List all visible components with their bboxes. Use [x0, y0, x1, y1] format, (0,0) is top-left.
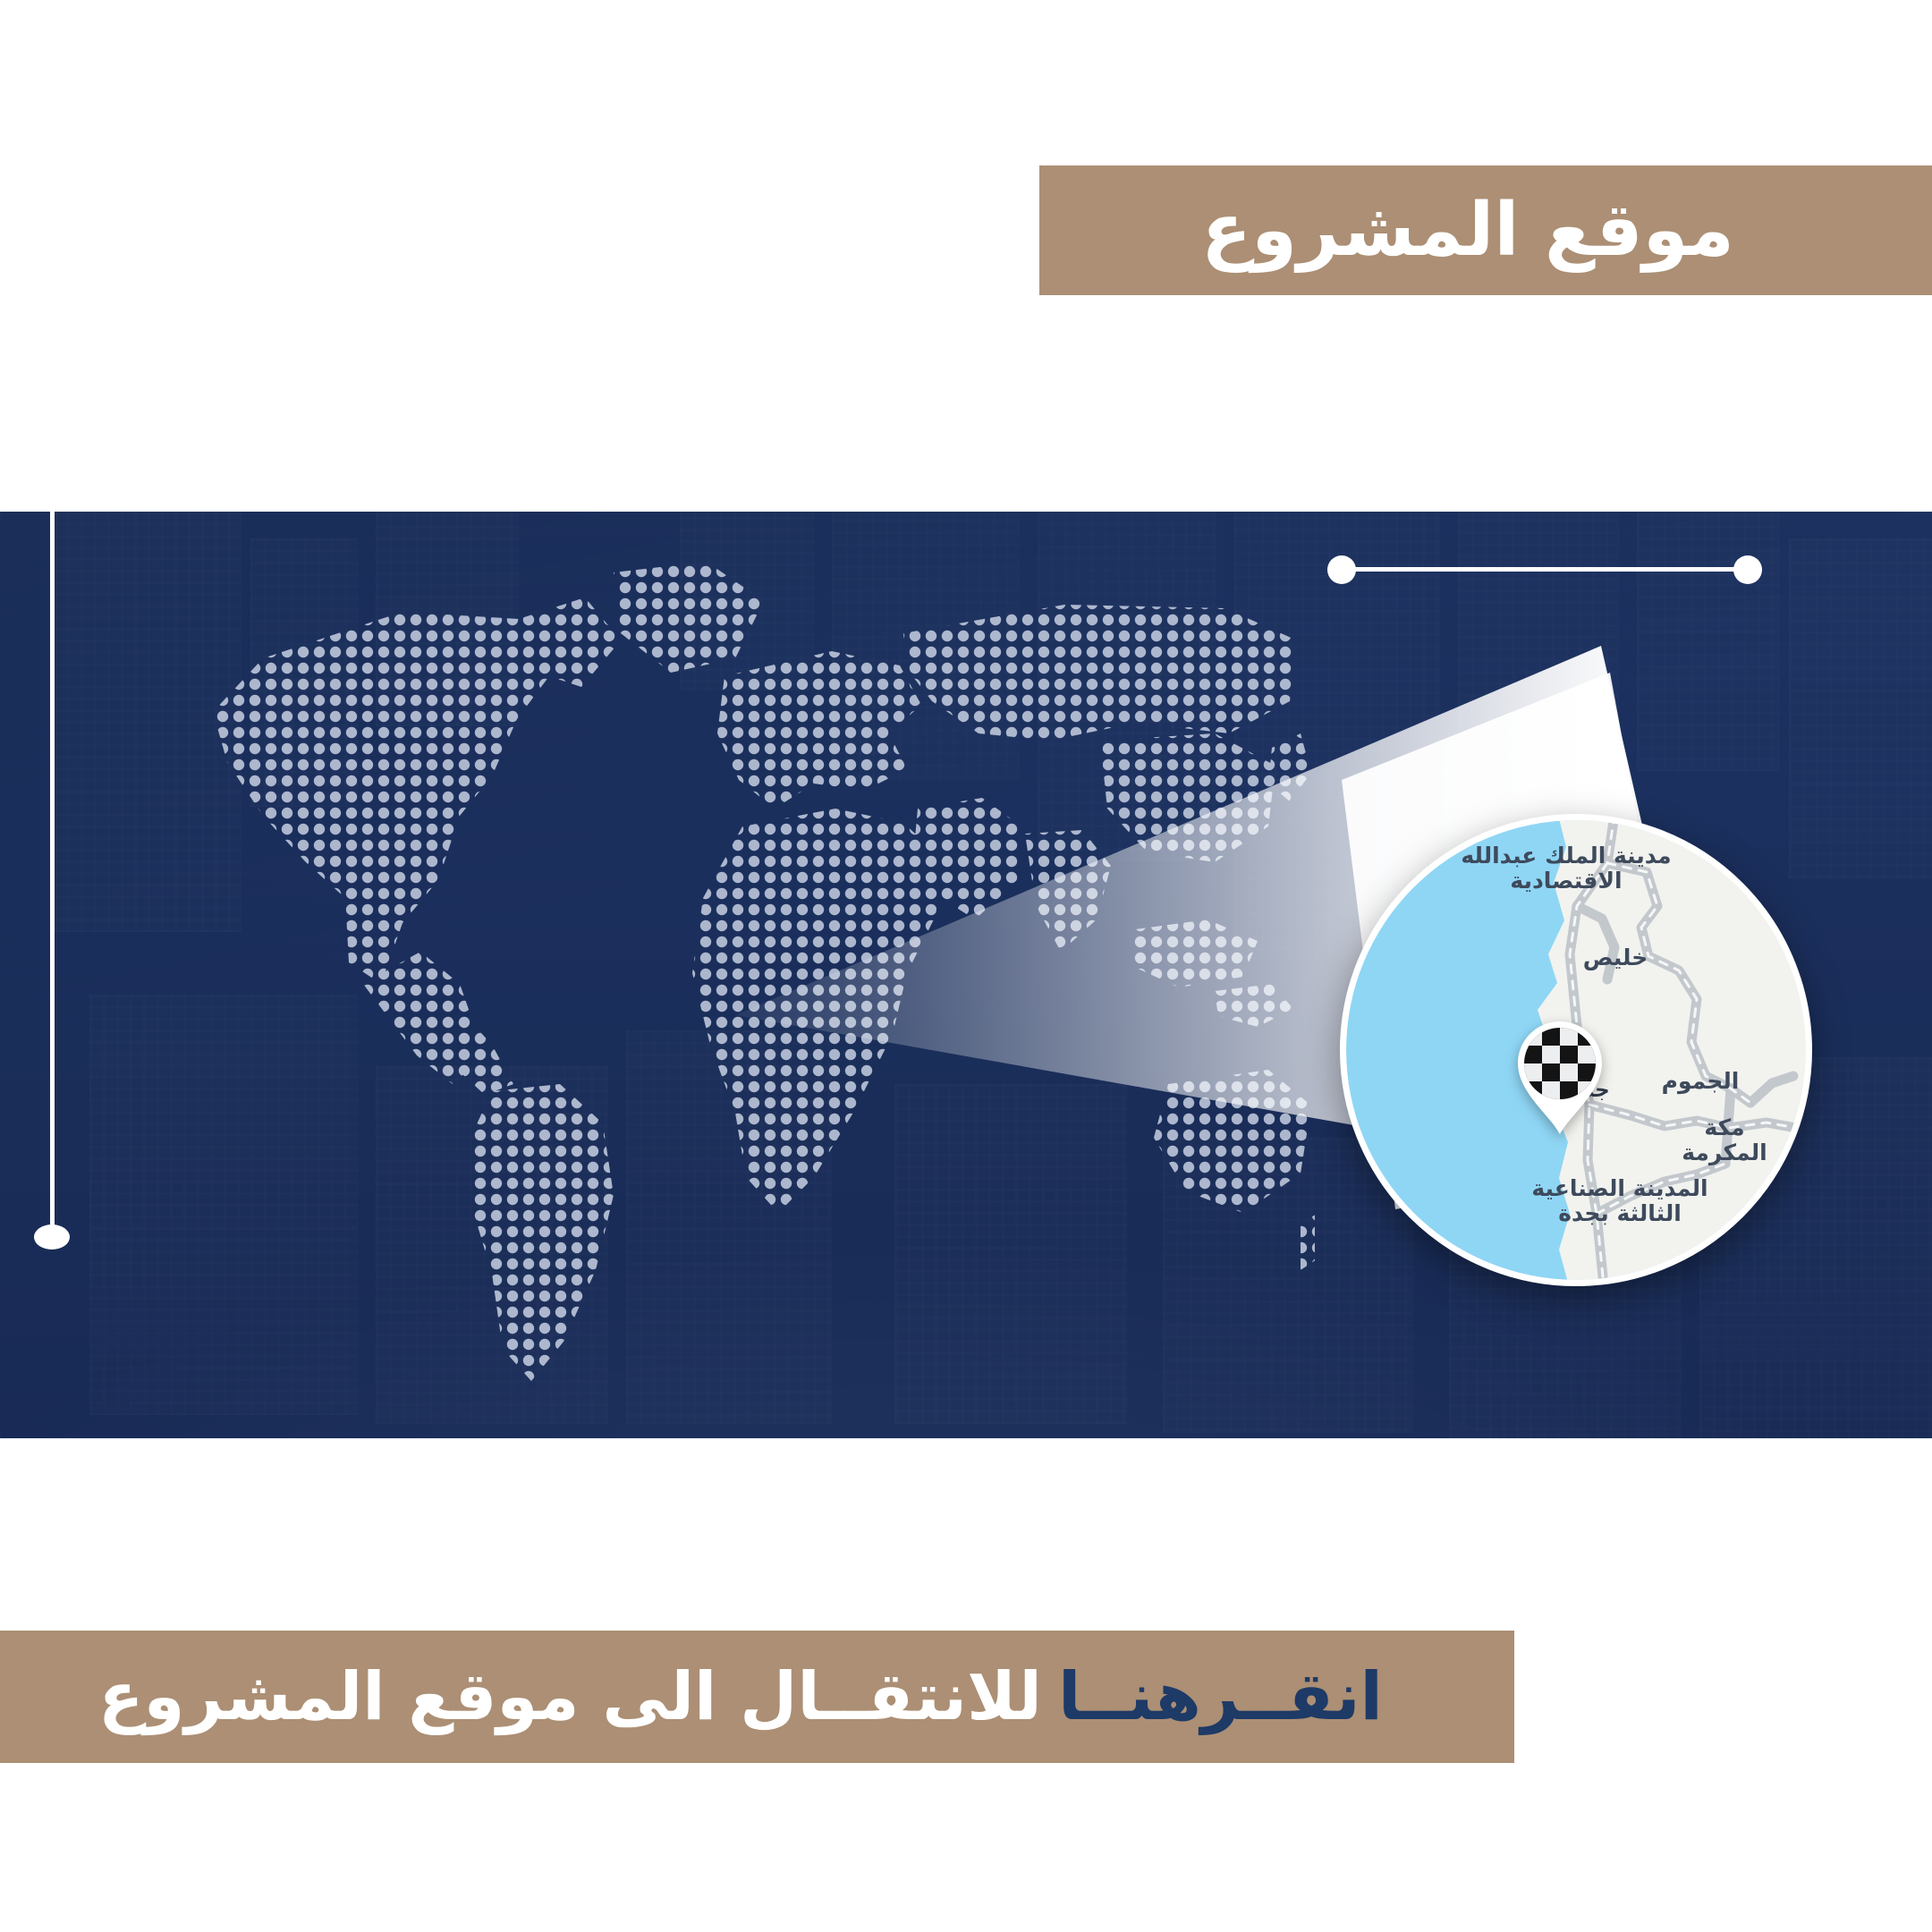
decor-vertical-line	[50, 512, 55, 1238]
map-label-khulais: خليص	[1557, 945, 1674, 970]
map-label-jumum: الجموم	[1638, 1069, 1763, 1094]
map-label-makkah-line1: مكة	[1657, 1115, 1792, 1140]
cta-rest-text: للانتقــال الى موقع المشروع	[98, 1664, 1042, 1730]
location-pin-checkered-flag-icon[interactable]	[1513, 1019, 1607, 1137]
map-label-industrial-city: المدينة الصناعية الثالثة بجدة	[1504, 1176, 1736, 1226]
decor-horizontal-line-dot-right	[1733, 555, 1762, 584]
decor-horizontal-line	[1338, 567, 1758, 572]
page-title: موقع المشروع	[1201, 194, 1734, 267]
page-title-banner: موقع المشروع	[1039, 165, 1932, 295]
world-dot-map	[134, 547, 1315, 1397]
map-label-industrial-line1: المدينة الصناعية	[1504, 1176, 1736, 1201]
map-canvas: مدينة الملك عبدالله الاقتصادية خليص الجم…	[1346, 820, 1806, 1280]
cta-accent-text[interactable]: انقــرهنــا	[1058, 1664, 1383, 1730]
decor-horizontal-line-dot-left	[1327, 555, 1356, 584]
map-label-kaec: مدينة الملك عبدالله الاقتصادية	[1450, 843, 1682, 894]
map-label-kaec-line1: مدينة الملك عبدالله	[1450, 843, 1682, 869]
hero-panel: مدينة الملك عبدالله الاقتصادية خليص الجم…	[0, 512, 1932, 1438]
map-label-khulais-line1: خليص	[1557, 945, 1674, 970]
cta-banner[interactable]: انقــرهنــا للانتقــال الى موقع المشروع	[0, 1631, 1514, 1763]
map-label-makkah: مكة المكرمة	[1657, 1115, 1792, 1165]
project-location-map[interactable]: مدينة الملك عبدالله الاقتصادية خليص الجم…	[1340, 814, 1812, 1286]
map-label-kaec-line2: الاقتصادية	[1450, 869, 1682, 894]
map-label-industrial-line2: الثالثة بجدة	[1504, 1201, 1736, 1226]
cta-text-line: انقــرهنــا للانتقــال الى موقع المشروع	[98, 1664, 1383, 1730]
slide-root: موقع المشروع	[0, 0, 1932, 1932]
decor-vertical-line-dot	[34, 1224, 70, 1250]
map-label-makkah-line2: المكرمة	[1657, 1140, 1792, 1165]
map-label-jumum-line1: الجموم	[1638, 1069, 1763, 1094]
